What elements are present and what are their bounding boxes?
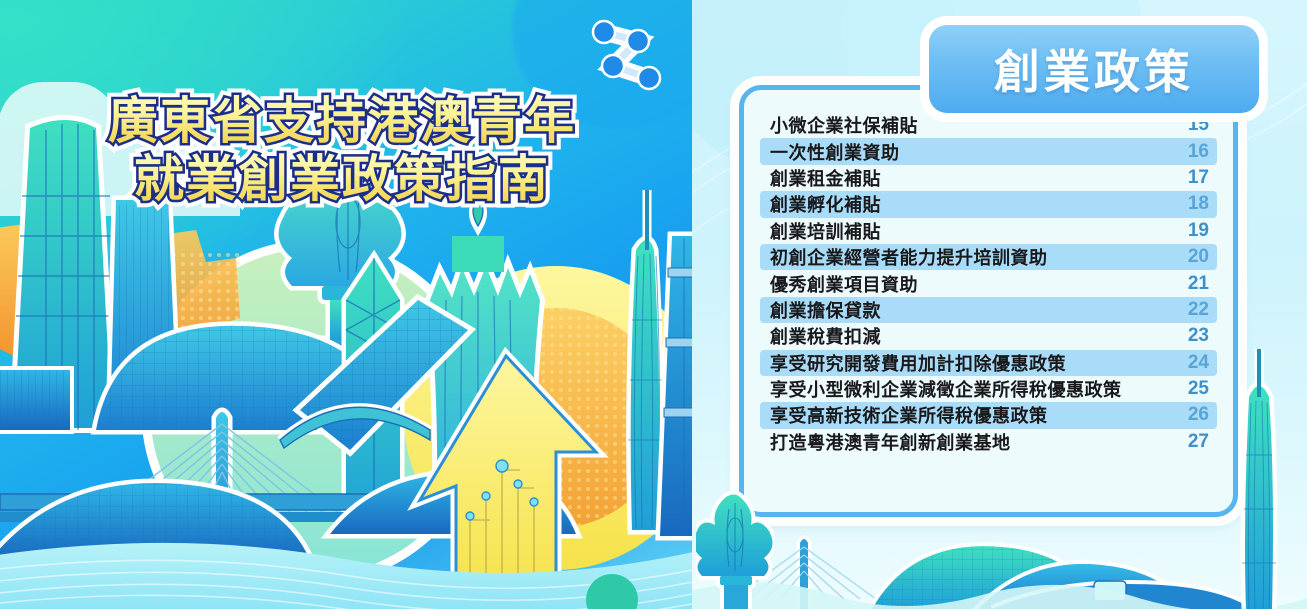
toc-row[interactable]: 享受小型微利企業減徵企業所得稅優惠政策25 <box>760 376 1217 402</box>
toc-entry-page-number: 24 <box>1175 352 1209 374</box>
toc-row[interactable]: 初創企業經營者能力提升培訓資助20 <box>760 244 1217 270</box>
toc-entry-page-number: 20 <box>1175 246 1209 268</box>
toc-entry-label: 創業擔保貸款 <box>770 297 1175 323</box>
toc-list: 小微企業社保補貼15一次性創業資助16創業租金補貼17創業孵化補貼18創業培訓補… <box>744 90 1233 512</box>
toc-entry-label: 創業稅費扣減 <box>770 323 1175 349</box>
toc-header-tab: 創業政策 <box>929 25 1259 113</box>
cover-title-line-2: 就業創業政策指南 就業創業政策指南 就業創業政策指南 <box>62 154 622 204</box>
toc-entry-page-number: 16 <box>1175 141 1209 163</box>
toc-row[interactable]: 打造粵港澳青年創新創業基地27 <box>760 429 1217 455</box>
toc-entry-page-number: 23 <box>1175 325 1209 347</box>
toc-entry-page-number: 19 <box>1175 220 1209 242</box>
toc-header-title: 創業政策 <box>994 36 1194 102</box>
toc-entry-page-number: 22 <box>1175 299 1209 321</box>
toc-entry-label: 享受研究開發費用加計扣除優惠政策 <box>770 350 1175 376</box>
toc-entry-page-number: 26 <box>1175 404 1209 426</box>
toc-entry-page-number: 25 <box>1175 378 1209 400</box>
golden-bauhinia-icon <box>696 487 774 609</box>
toc-row[interactable]: 創業租金補貼17 <box>760 165 1217 191</box>
canton-tower-icon <box>1229 345 1289 609</box>
toc-entry-label: 享受高新技術企業所得稅優惠政策 <box>770 402 1175 428</box>
cover-panel: 廣東省支持港澳青年 廣東省支持港澳青年 廣東省支持港澳青年 就業創業政策指南 就… <box>0 0 692 609</box>
toc-card: 小微企業社保補貼15一次性創業資助16創業租金補貼17創業孵化補貼18創業培訓補… <box>739 85 1238 517</box>
toc-entry-label: 初創企業經營者能力提升培訓資助 <box>770 244 1175 270</box>
toc-entry-label: 一次性創業資助 <box>770 139 1175 165</box>
toc-entry-label: 享受小型微利企業減徵企業所得稅優惠政策 <box>770 376 1175 402</box>
toc-row[interactable]: 創業稅費扣減23 <box>760 323 1217 349</box>
toc-entry-page-number: 15 <box>1175 114 1209 136</box>
toc-entry-label: 創業培訓補貼 <box>770 218 1175 244</box>
poster-spread: 廣東省支持港澳青年 廣東省支持港澳青年 廣東省支持港澳青年 就業創業政策指南 就… <box>0 0 1307 609</box>
toc-entry-label: 打造粵港澳青年創新創業基地 <box>770 429 1175 455</box>
toc-entry-label: 創業孵化補貼 <box>770 191 1175 217</box>
toc-entry-page-number: 18 <box>1175 193 1209 215</box>
toc-entry-page-number: 27 <box>1175 431 1209 453</box>
city-skyline-illustration <box>0 0 692 609</box>
cover-title: 廣東省支持港澳青年 廣東省支持港澳青年 廣東省支持港澳青年 就業創業政策指南 就… <box>62 96 622 204</box>
toc-row[interactable]: 享受高新技術企業所得稅優惠政策26 <box>760 402 1217 428</box>
toc-entry-page-number: 17 <box>1175 167 1209 189</box>
toc-entry-label: 優秀創業項目資助 <box>770 271 1175 297</box>
toc-entry-label: 小微企業社保補貼 <box>770 112 1175 138</box>
toc-row[interactable]: 創業擔保貸款22 <box>760 297 1217 323</box>
toc-panel: 創業政策 小微企業社保補貼15一次性創業資助16創業租金補貼17創業孵化補貼18… <box>692 0 1307 609</box>
toc-row[interactable]: 小微企業社保補貼15 <box>760 112 1217 138</box>
toc-entry-page-number: 21 <box>1175 273 1209 295</box>
toc-bottom-skyline <box>692 469 1307 609</box>
toc-row[interactable]: 優秀創業項目資助21 <box>760 270 1217 296</box>
toc-row[interactable]: 創業孵化補貼18 <box>760 191 1217 217</box>
toc-row[interactable]: 創業培訓補貼19 <box>760 218 1217 244</box>
toc-entry-label: 創業租金補貼 <box>770 165 1175 191</box>
toc-row[interactable]: 享受研究開發費用加計扣除優惠政策24 <box>760 350 1217 376</box>
toc-row[interactable]: 一次性創業資助16 <box>760 138 1217 164</box>
cover-title-line-1: 廣東省支持港澳青年 廣東省支持港澳青年 廣東省支持港澳青年 <box>62 96 622 146</box>
